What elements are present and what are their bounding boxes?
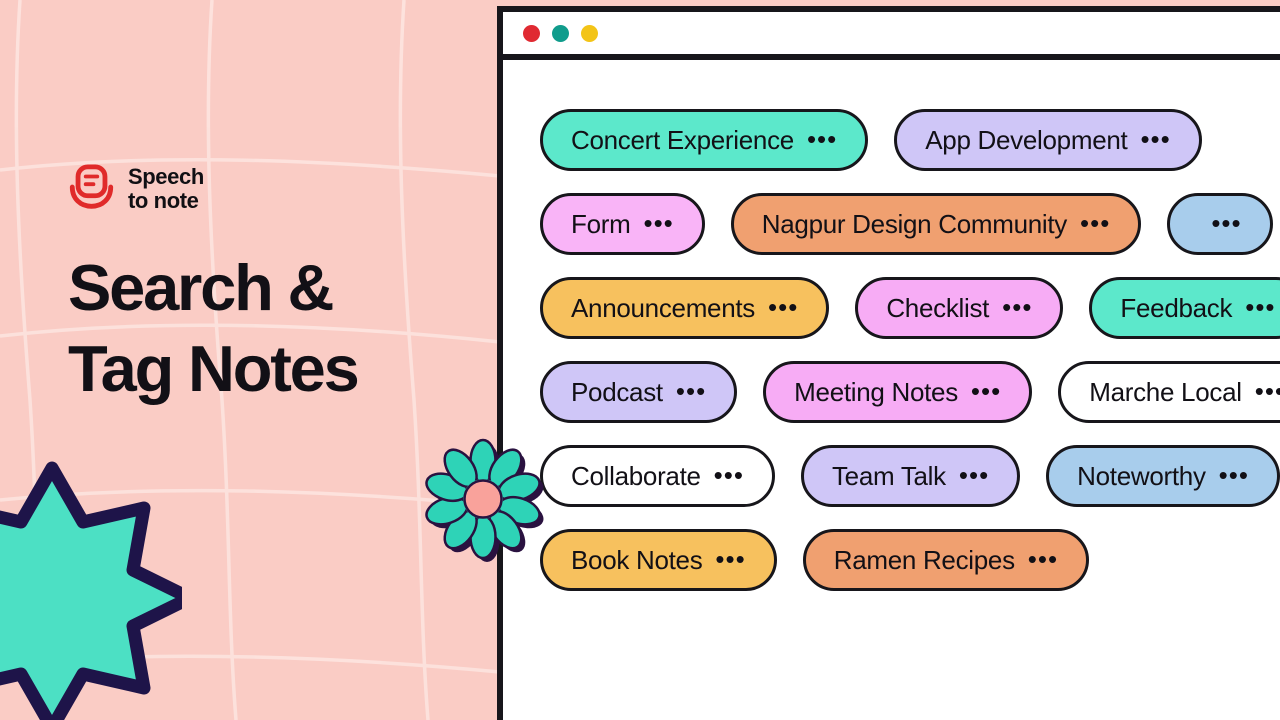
tag-chip[interactable]: Podcast ••• xyxy=(540,361,737,423)
tag-chip[interactable]: Feedback ••• xyxy=(1089,277,1280,339)
tag-row: Podcast ••• Meeting Notes ••• Marche Loc… xyxy=(540,361,1280,423)
tag-chip[interactable]: Marche Local ••• xyxy=(1058,361,1280,423)
page-title: Search & Tag Notes xyxy=(68,248,488,409)
tag-label: Team Talk xyxy=(832,461,946,492)
tag-chip[interactable]: ••• xyxy=(1167,193,1272,255)
tag-menu-icon[interactable]: ••• xyxy=(971,384,1001,400)
tag-menu-icon[interactable]: ••• xyxy=(643,216,673,232)
brand-lockup: Speech to note xyxy=(68,164,204,214)
tag-menu-icon[interactable]: ••• xyxy=(959,468,989,484)
tag-label: Nagpur Design Community xyxy=(762,209,1067,240)
tag-chip[interactable]: Ramen Recipes ••• xyxy=(803,529,1089,591)
flower-shape xyxy=(425,437,545,562)
tag-row: Collaborate ••• Team Talk ••• Noteworthy… xyxy=(540,445,1280,507)
window-titlebar xyxy=(503,12,1280,60)
tag-menu-icon[interactable]: ••• xyxy=(714,468,744,484)
tag-menu-icon[interactable]: ••• xyxy=(1140,132,1170,148)
starburst-shape xyxy=(0,450,182,720)
tag-label: Noteworthy xyxy=(1077,461,1206,492)
tag-label: Form xyxy=(571,209,630,240)
tag-row: Book Notes ••• Ramen Recipes ••• xyxy=(540,529,1280,591)
tag-label: Checklist xyxy=(886,293,989,324)
tag-menu-icon[interactable]: ••• xyxy=(768,300,798,316)
tag-label: Concert Experience xyxy=(571,125,794,156)
brand-line-1: Speech xyxy=(128,165,204,189)
tag-chip[interactable]: Announcements ••• xyxy=(540,277,829,339)
tag-label: Meeting Notes xyxy=(794,377,958,408)
tag-menu-icon[interactable]: ••• xyxy=(1255,384,1280,400)
tag-label: Ramen Recipes xyxy=(834,545,1015,576)
tag-list: Concert Experience ••• App Development •… xyxy=(503,60,1280,591)
tag-menu-icon[interactable]: ••• xyxy=(715,552,745,568)
microphone-note-icon xyxy=(68,164,115,214)
maximize-button[interactable] xyxy=(581,25,598,42)
tag-row: Announcements ••• Checklist ••• Feedback… xyxy=(540,277,1280,339)
headline-line-1: Search & xyxy=(68,248,488,329)
tag-chip[interactable]: Collaborate ••• xyxy=(540,445,775,507)
tag-row: Form ••• Nagpur Design Community ••• ••• xyxy=(540,193,1280,255)
tag-label: Collaborate xyxy=(571,461,701,492)
tag-menu-icon[interactable]: ••• xyxy=(676,384,706,400)
tag-label: Announcements xyxy=(571,293,755,324)
tag-chip[interactable]: Meeting Notes ••• xyxy=(763,361,1032,423)
minimize-button[interactable] xyxy=(552,25,569,42)
tag-chip[interactable]: App Development ••• xyxy=(894,109,1202,171)
tag-label: Book Notes xyxy=(571,545,702,576)
tag-chip[interactable]: Noteworthy ••• xyxy=(1046,445,1280,507)
tag-menu-icon[interactable]: ••• xyxy=(1080,216,1110,232)
tag-menu-icon[interactable]: ••• xyxy=(1245,300,1275,316)
tag-menu-icon[interactable]: ••• xyxy=(1211,216,1241,232)
brand-line-2: to note xyxy=(128,189,204,213)
tag-chip[interactable]: Form ••• xyxy=(540,193,705,255)
tag-chip[interactable]: Checklist ••• xyxy=(855,277,1063,339)
tag-chip[interactable]: Book Notes ••• xyxy=(540,529,777,591)
tag-label: Feedback xyxy=(1120,293,1232,324)
tag-row: Concert Experience ••• App Development •… xyxy=(540,109,1280,171)
left-hero-panel: Speech to note Search & Tag Notes xyxy=(0,0,497,720)
close-button[interactable] xyxy=(523,25,540,42)
tag-menu-icon[interactable]: ••• xyxy=(1028,552,1058,568)
tag-label: Podcast xyxy=(571,377,663,408)
brand-name: Speech to note xyxy=(128,165,204,212)
tag-chip[interactable]: Nagpur Design Community ••• xyxy=(731,193,1142,255)
tag-menu-icon[interactable]: ••• xyxy=(807,132,837,148)
tag-label: App Development xyxy=(925,125,1127,156)
tag-label: Marche Local xyxy=(1089,377,1241,408)
app-window: Concert Experience ••• App Development •… xyxy=(497,6,1280,720)
headline-line-2: Tag Notes xyxy=(68,329,488,410)
tag-chip[interactable]: Concert Experience ••• xyxy=(540,109,868,171)
tag-menu-icon[interactable]: ••• xyxy=(1219,468,1249,484)
tag-chip[interactable]: Team Talk ••• xyxy=(801,445,1020,507)
tag-menu-icon[interactable]: ••• xyxy=(1002,300,1032,316)
